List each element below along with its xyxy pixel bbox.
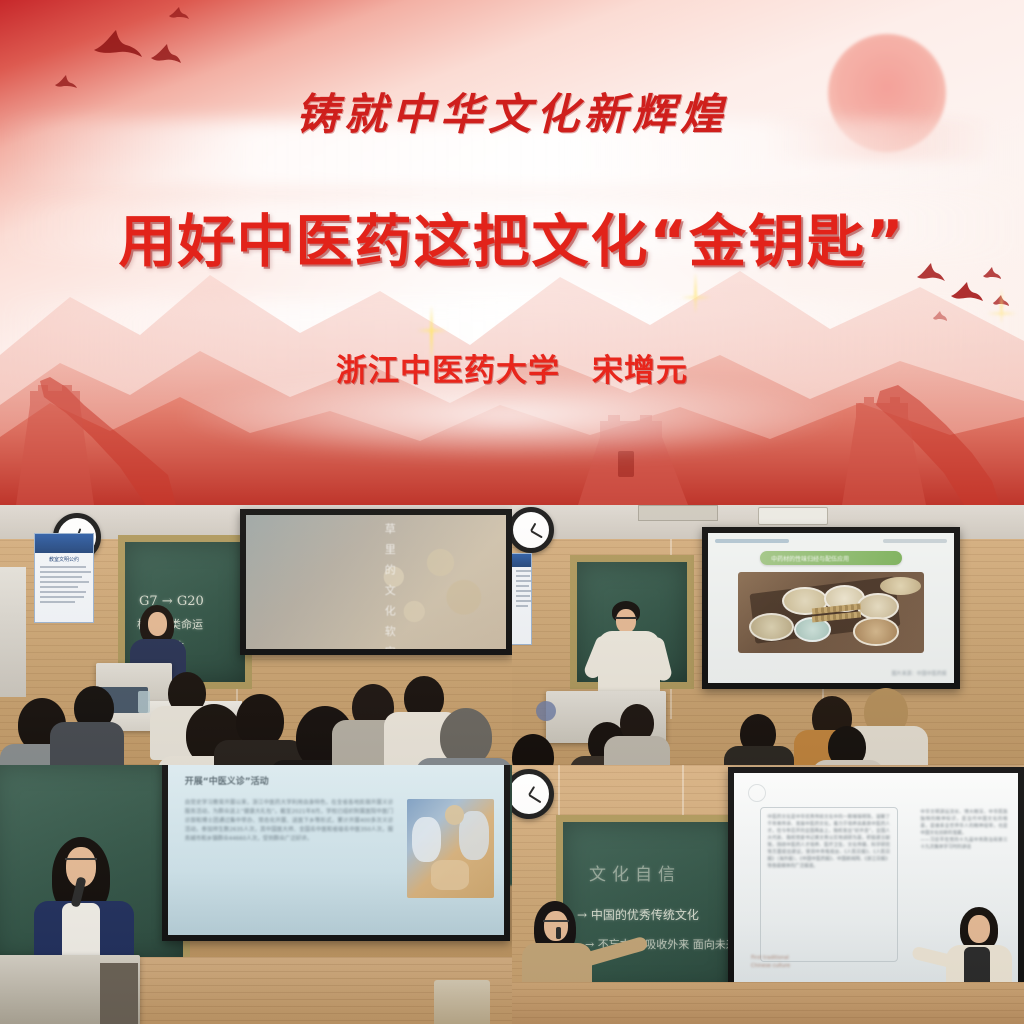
slide-banner: 中药材的性味归经与配伍应用 bbox=[760, 551, 903, 565]
slide-body: 自党史学习教育开展以来，浙江中医药大学利用自身特色，在全省各地民宿开展义诊服务活… bbox=[185, 799, 393, 844]
slide-quote-box-left: 中医药文化是中华优秀传统文化中的一颗璀璨明珠，凝聚了千年来传承、发展中医药文化，… bbox=[760, 807, 898, 962]
slide-seal bbox=[748, 784, 766, 802]
slide-en-caption: First traditional Chinese culture bbox=[751, 954, 790, 970]
poster-title: 教室文明公约 bbox=[35, 556, 93, 563]
control-panel bbox=[758, 507, 828, 525]
wall-poster bbox=[512, 553, 532, 645]
slide-herb-photo bbox=[350, 536, 496, 638]
slide-quote-right: 中华文明源远流长、博大精深，中华民族独特的精神标识，是当代中国文化的根基，是维系… bbox=[920, 809, 1007, 851]
projector-headline: 草 里 的 文 化 软 实 力 bbox=[381, 523, 397, 649]
projector-screen: 开展“中医义诊”活动 自党史学习教育开展以来，浙江中医药大学利用自身特色，在全省… bbox=[162, 765, 510, 941]
byline: 浙江中医药大学 宋增元 bbox=[0, 345, 1024, 390]
projected-slide: 草 里 的 文 化 软 实 力 bbox=[246, 515, 506, 649]
page-title: 用好中医药这把文化“金钥匙” bbox=[0, 196, 1024, 278]
audience bbox=[0, 648, 512, 765]
projector-screen: 中药材的性味归经与配伍应用 图片 bbox=[702, 527, 960, 689]
wall-poster: 教室文明公约 bbox=[34, 533, 94, 623]
ceiling-panel bbox=[638, 505, 718, 521]
light-sparkle bbox=[1000, 288, 1003, 324]
slide-logo bbox=[715, 539, 789, 543]
poster-image: 铸就中华文化新辉煌 用好中医药这把文化“金钥匙” 浙江中医药大学 宋增元 教室文… bbox=[0, 0, 1024, 1024]
glasses-icon bbox=[65, 858, 97, 866]
slide-banner-text: 中药材的性味归经与配伍应用 bbox=[771, 554, 849, 563]
chair bbox=[434, 980, 490, 1024]
calligraphy-headline: 铸就中华文化新辉煌 bbox=[0, 80, 1024, 142]
projector-screen: 草 里 的 文 化 软 实 力 bbox=[240, 509, 512, 655]
slide-title: 开展“中医义诊”活动 bbox=[185, 774, 269, 787]
light-sparkle bbox=[694, 272, 697, 314]
podium-side bbox=[100, 963, 138, 1024]
projected-slide: 开展“中医义诊”活动 自党史学习教育开展以来，浙江中医药大学利用自身特色，在全省… bbox=[168, 765, 504, 935]
audience bbox=[512, 682, 1024, 765]
title-slide: 铸就中华文化新辉煌 用好中医药这把文化“金钥匙” 浙江中医药大学 宋增元 bbox=[0, 0, 1024, 505]
slide-meta bbox=[883, 539, 947, 543]
glasses-icon bbox=[615, 617, 637, 624]
bird-icon bbox=[92, 26, 144, 60]
slide-clinic-photo bbox=[407, 799, 494, 898]
blackboard-line-1: 文化自信 bbox=[589, 860, 681, 885]
headset-microphone bbox=[556, 927, 561, 939]
projected-slide: 中药材的性味归经与配伍应用 图片 bbox=[708, 533, 954, 683]
photo-bottom-right: 文化自信 → 中国的优秀传统文化 → 不忘本来 吸收外来 面向未来 中医药文化是… bbox=[512, 765, 1024, 1024]
slide-quote-box-right: 中华文明源远流长、博大精深，中华民族独特的精神标识，是当代中国文化的根基，是维系… bbox=[919, 807, 1010, 909]
blackboard-line-2: → 中国的优秀传统文化 bbox=[577, 906, 699, 923]
slide-quote-left: 中医药文化是中华优秀传统文化中的一颗璀璨明珠，凝聚了千年来传承、发展中医药文化，… bbox=[767, 814, 890, 870]
poster-header bbox=[35, 534, 93, 553]
photo-bottom-left: 开展“中医义诊”活动 自党史学习教育开展以来，浙江中医药大学利用自身特色，在全省… bbox=[0, 765, 512, 1024]
photo-grid: 教室文明公约 G7 → G20 构建人类命运 共同体 草 里 的 文 化 软 实… bbox=[0, 505, 1024, 1024]
shirt bbox=[62, 903, 100, 963]
bird-icon bbox=[150, 42, 182, 66]
slide-herb-photo bbox=[738, 572, 925, 653]
photo-top-right: 中药材的性味归经与配伍应用 图片 bbox=[512, 505, 1024, 765]
photo-top-left: 教室文明公约 G7 → G20 构建人类命运 共同体 草 里 的 文 化 软 实… bbox=[0, 505, 512, 765]
bird-icon bbox=[168, 6, 190, 22]
slide-footer: 图片来源：中国中医药报 bbox=[892, 670, 947, 677]
wall-wood-lower bbox=[512, 982, 1024, 1024]
